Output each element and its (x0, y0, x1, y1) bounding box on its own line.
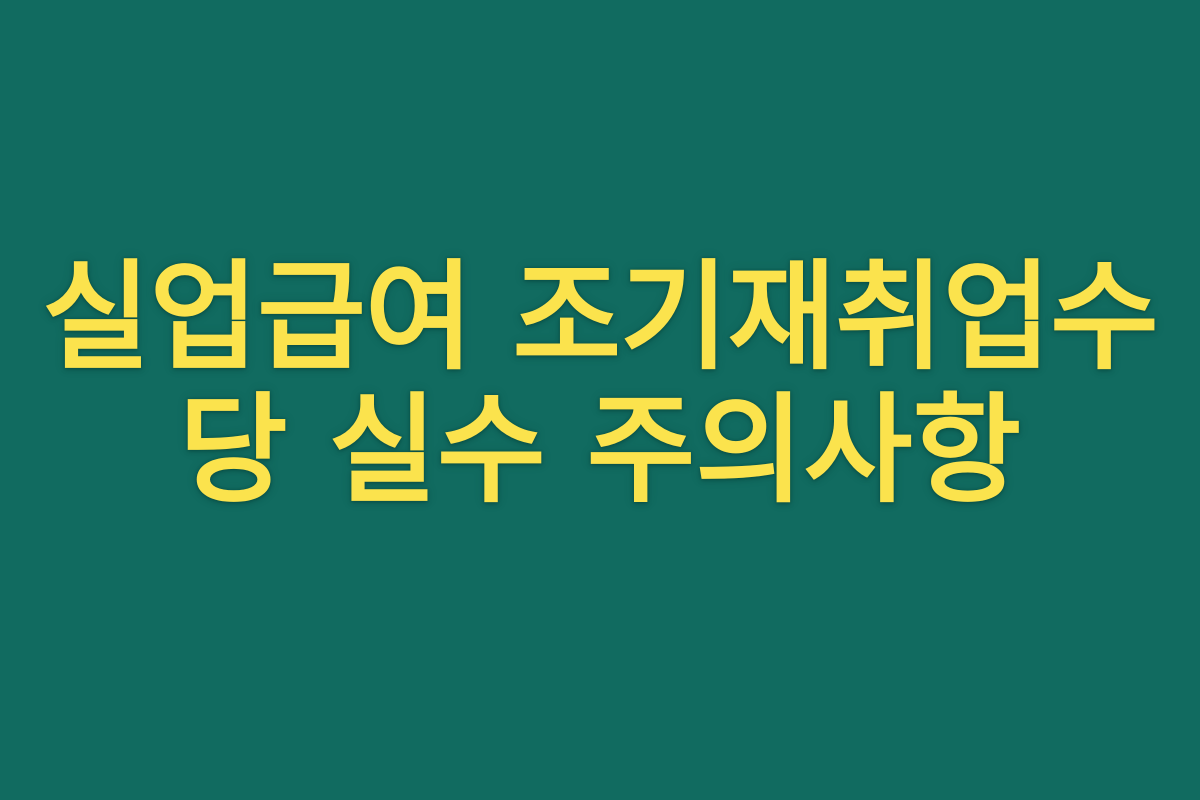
title-line-2: 당 실수 주의사항 (0, 384, 1200, 517)
title-line-1: 실업급여 조기재취업수 (0, 251, 1200, 384)
title-block: 실업급여 조기재취업수 당 실수 주의사항 (0, 251, 1200, 518)
thumbnail-canvas: 실업급여 조기재취업수 당 실수 주의사항 (0, 0, 1200, 800)
